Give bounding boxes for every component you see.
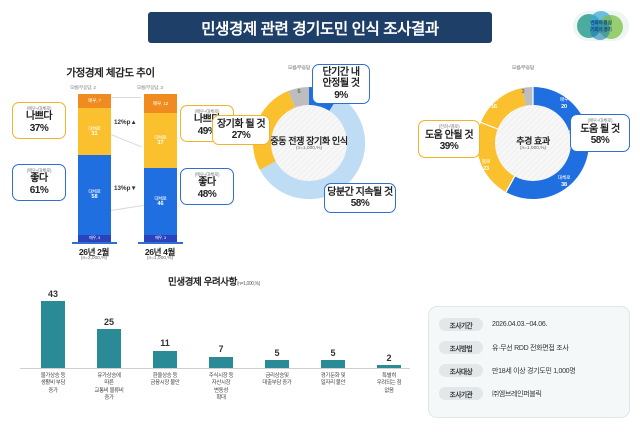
callout-prolonged: 장기화 될 것 27% xyxy=(212,115,270,145)
callout-for-now: 당분간 지속될 것 58% xyxy=(324,183,396,213)
bar-category-3: 주식시장 등자산시장변동성확대 xyxy=(192,373,250,402)
budget-no-answer-label: 모름/무응답 xyxy=(500,66,546,72)
callout-good-feb: (매우+대체로) 좋다 61% xyxy=(12,164,66,201)
col1-top-note: 모름/무응답, 2 xyxy=(70,85,96,91)
page-title-bar: 민생경제 관련 경기도민 인식 조사결과 xyxy=(148,12,492,43)
bar-4 xyxy=(265,360,289,368)
callout-bad-feb: (매우+대체로) 나쁘다 37% xyxy=(12,102,66,139)
callout-line-1: 당분간 지속될 것 xyxy=(327,187,392,199)
connector-mid xyxy=(111,134,142,147)
war-donut-center-sub: (n=1,000,%) xyxy=(238,146,380,151)
callout-pct: 9% xyxy=(334,90,347,102)
delta-good-decrease: 13%p▼ xyxy=(114,185,137,192)
info-row-method: 조사방법 유·무선 RDD 전화면접 조사 xyxy=(439,340,569,355)
household-economy-title: 가정경제 체감도 추이 xyxy=(8,65,213,80)
info-value: ㈜엠브레인퍼블릭 xyxy=(492,389,542,399)
bar-value-4: 5 xyxy=(252,348,302,358)
info-value: 유·무선 RDD 전화면접 조사 xyxy=(492,343,569,353)
info-value: 만18세 이상 경기도민 1,000명 xyxy=(492,366,575,376)
segment-value: 31 xyxy=(91,131,97,137)
bar-category-1: 유가상승에따른교통비 물류비증가 xyxy=(80,373,138,402)
axis-feb xyxy=(72,242,117,244)
connector-bottom xyxy=(111,205,144,211)
callout-pct: 58% xyxy=(591,135,610,147)
connector-top xyxy=(111,97,141,98)
info-row-agency: 조사기관 ㈜엠브레인퍼블릭 xyxy=(439,386,542,401)
concerns-axis-line xyxy=(20,368,410,369)
budget-label-notreally: 별로23 xyxy=(474,160,498,172)
segment-very-good-feb: 매우, 3 xyxy=(78,235,111,242)
callout-pct: 39% xyxy=(440,141,459,153)
bar-value-3: 7 xyxy=(196,344,246,354)
callout-main: 좋다 xyxy=(198,177,215,189)
axis-apr xyxy=(138,242,183,244)
segment-very-good-apr: 매우, 3 xyxy=(144,235,177,242)
concerns-bar-chart-section: 민생경제 우려사항(n=1,000,%) 43 25 11 7 5 5 2 물가… xyxy=(14,272,414,430)
bar-6 xyxy=(377,365,401,368)
callout-wont-help: (전혀+별로) 도움 안될 것 39% xyxy=(418,120,480,158)
bar-value-0: 43 xyxy=(28,289,78,299)
callout-pct: 48% xyxy=(198,189,217,201)
info-key: 조사기간 xyxy=(439,318,483,332)
callout-good-apr: (매우+대체로) 좋다 48% xyxy=(180,168,234,205)
logo-mark-icon xyxy=(573,11,629,41)
callout-main: 좋다 xyxy=(30,173,47,185)
gyeonggi-logo: 변화의 중심 기회의 경기 xyxy=(573,11,629,41)
segment-somewhat-bad-feb: 대체로 31 xyxy=(78,108,111,155)
callout-line-2: 안정될 것 xyxy=(322,78,359,90)
segment-somewhat-good-feb: 대체로 58 xyxy=(78,155,111,235)
callout-pct: 27% xyxy=(232,130,251,142)
segment-label: 매우, 3 xyxy=(89,236,100,241)
bar-value-6: 2 xyxy=(364,353,414,363)
household-economy-section: 가정경제 체감도 추이 모름/무응답, 2 모름/무응답, 3 매우, 7 대체… xyxy=(8,60,213,255)
bar-category-6: 특별히우려되는 점없음 xyxy=(360,373,418,395)
segment-label: 매우, 7 xyxy=(88,98,101,103)
info-key: 조사기관 xyxy=(439,387,483,401)
segment-very-bad-feb: 매우, 7 xyxy=(78,94,111,108)
survey-info-box: 조사기간 2026.04.03.~04.06. 조사방법 유·무선 RDD 전화… xyxy=(428,306,630,418)
concerns-chart-title: 민생경제 우려사항(n=1,000,%) xyxy=(14,274,414,288)
bar-value-2: 11 xyxy=(140,338,190,348)
bar-value-5: 5 xyxy=(308,348,358,358)
bar-category-2: 환율상승 등금융시장 불안 xyxy=(136,373,194,388)
delta-bad-increase: 12%p▲ xyxy=(114,119,137,126)
info-row-target: 조사대상 만18세 이상 경기도민 1,000명 xyxy=(439,363,575,378)
segment-label: 매우, 12 xyxy=(153,101,168,106)
page-title: 민생경제 관련 경기도민 인식 조사결과 xyxy=(201,17,438,39)
budget-label-notatall: 전혀16 xyxy=(482,98,506,110)
budget-label-very: 매우20 xyxy=(552,98,576,110)
war-no-answer-value: 6 xyxy=(290,89,308,96)
segment-very-bad-apr: 매우, 12 xyxy=(144,94,177,113)
callout-pct: 37% xyxy=(30,123,49,135)
logo-line-2: 기회의 경기 xyxy=(573,27,629,33)
xsub-apr: (n=1,000,%) xyxy=(130,256,190,261)
callout-short-term: 단기간 내 안정될 것 9% xyxy=(312,64,370,104)
xsub-feb: (n=2,000,%) xyxy=(64,256,124,261)
bar-2 xyxy=(153,351,177,368)
segment-label: 매우, 3 xyxy=(155,236,166,241)
callout-will-help: (매우+대체로) 도움 될 것 58% xyxy=(570,114,630,152)
callout-main: 도움 안될 것 xyxy=(425,130,473,142)
budget-no-answer-value: 3 xyxy=(514,89,532,96)
segment-somewhat-good-apr: 대체로 46 xyxy=(144,168,177,235)
bar-value-1: 25 xyxy=(84,317,134,327)
col2-top-note: 모름/무응답, 3 xyxy=(137,85,163,91)
callout-pct: 58% xyxy=(351,198,370,210)
callout-main: 도움 될 것 xyxy=(580,124,619,136)
info-key: 조사방법 xyxy=(439,341,483,355)
callout-main: 나쁘다 xyxy=(26,111,52,123)
logo-line-1: 변화의 중심 xyxy=(573,20,629,26)
bar-category-4: 금리상승및대출부담 증가 xyxy=(248,373,306,388)
callout-pct: 61% xyxy=(30,185,49,197)
bar-5 xyxy=(321,360,345,368)
info-key: 조사대상 xyxy=(439,364,483,378)
segment-somewhat-bad-apr: 대체로 37 xyxy=(144,113,177,168)
callout-line-1: 단기간 내 xyxy=(322,67,359,79)
bar-1 xyxy=(97,329,121,368)
infographic-page: 민생경제 관련 경기도민 인식 조사결과 변화의 중심 기회의 경기 가정경제 … xyxy=(0,0,640,434)
info-row-period: 조사기간 2026.04.03.~04.06. xyxy=(439,317,547,332)
segment-value: 58 xyxy=(91,194,97,200)
bar-category-0: 물가상승 등생활비 부담증가 xyxy=(24,373,82,395)
bar-3 xyxy=(209,357,233,368)
segment-value: 46 xyxy=(157,201,163,207)
info-value: 2026.04.03.~04.06. xyxy=(492,321,547,328)
budget-label-somewhat: 대체로38 xyxy=(548,176,580,188)
segment-value: 37 xyxy=(157,140,163,146)
bar-category-5: 경기둔화 및일자리 불안 xyxy=(304,373,362,388)
bar-0 xyxy=(41,301,65,368)
callout-line-1: 장기화 될 것 xyxy=(217,119,265,131)
